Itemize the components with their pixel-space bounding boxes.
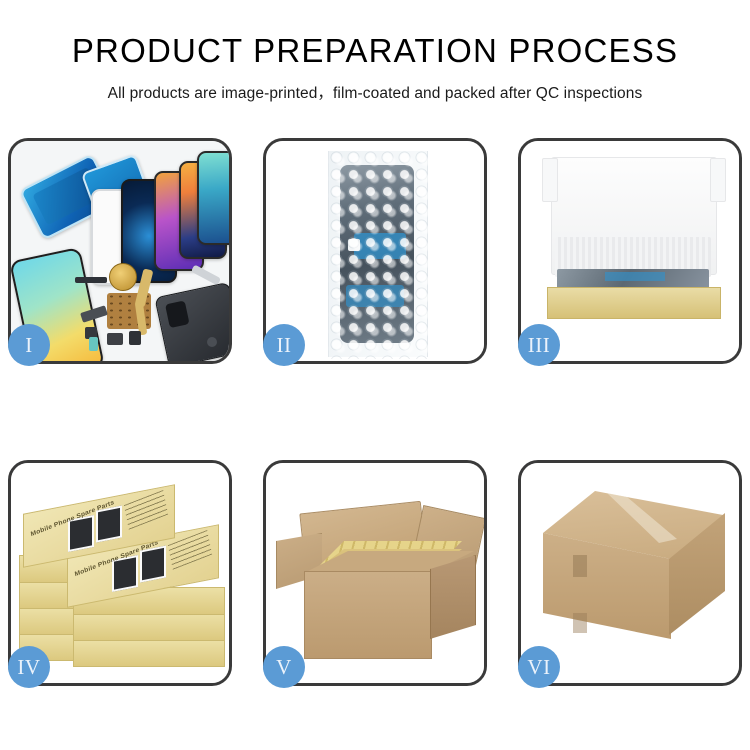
step-badge-2: II xyxy=(263,324,305,366)
phone-screen-teal xyxy=(197,151,229,245)
step-badge-6: VI xyxy=(518,646,560,688)
step-badge-3: III xyxy=(518,324,560,366)
process-steps-grid: I II III xyxy=(8,138,742,686)
step-panel-2: II xyxy=(263,138,487,364)
small-part-3 xyxy=(107,333,123,345)
small-part-7 xyxy=(191,264,221,285)
step-image-4: Mobile Phone Spare Parts Mobile Phone Sp… xyxy=(11,463,229,683)
step-image-3 xyxy=(521,141,739,361)
step-image-6 xyxy=(521,463,739,683)
page-header: PRODUCT PREPARATION PROCESS All products… xyxy=(0,0,750,103)
small-part-5 xyxy=(89,337,98,351)
kraft-box-front-panel xyxy=(547,287,721,319)
carton-front-face xyxy=(304,571,432,659)
step-image-1 xyxy=(11,141,229,361)
carton-seam-2 xyxy=(573,613,587,633)
product-preparation-page: PRODUCT PREPARATION PROCESS All products… xyxy=(0,0,750,750)
step-panel-1: I xyxy=(8,138,232,364)
step-panel-5: V xyxy=(263,460,487,686)
step-image-5 xyxy=(266,463,484,683)
earpiece-part xyxy=(75,277,107,283)
retail-box-body xyxy=(73,613,225,641)
page-subtitle: All products are image-printed，film-coat… xyxy=(0,81,750,103)
carton-seam-1 xyxy=(573,555,587,577)
step-badge-5: V xyxy=(263,646,305,688)
small-part-4 xyxy=(129,331,141,345)
step-badge-4: IV xyxy=(8,646,50,688)
step-panel-6: VI xyxy=(518,460,742,686)
small-part-6 xyxy=(207,337,217,347)
carton-side-face xyxy=(430,555,476,639)
step-panel-4: Mobile Phone Spare Parts Mobile Phone Sp… xyxy=(8,460,232,686)
bubble-highlight-layer xyxy=(328,149,428,359)
step-panel-3: III xyxy=(518,138,742,364)
step-badge-1: I xyxy=(8,324,50,366)
retail-box-body xyxy=(73,639,225,667)
phone-back-housing xyxy=(154,282,229,361)
retail-box-stack: Mobile Phone Spare Parts Mobile Phone Sp… xyxy=(17,483,229,673)
speaker-part-icon xyxy=(109,263,137,291)
box-spec-text-lines xyxy=(124,490,168,530)
page-title: PRODUCT PREPARATION PROCESS xyxy=(0,34,750,69)
step-image-2 xyxy=(266,141,484,361)
